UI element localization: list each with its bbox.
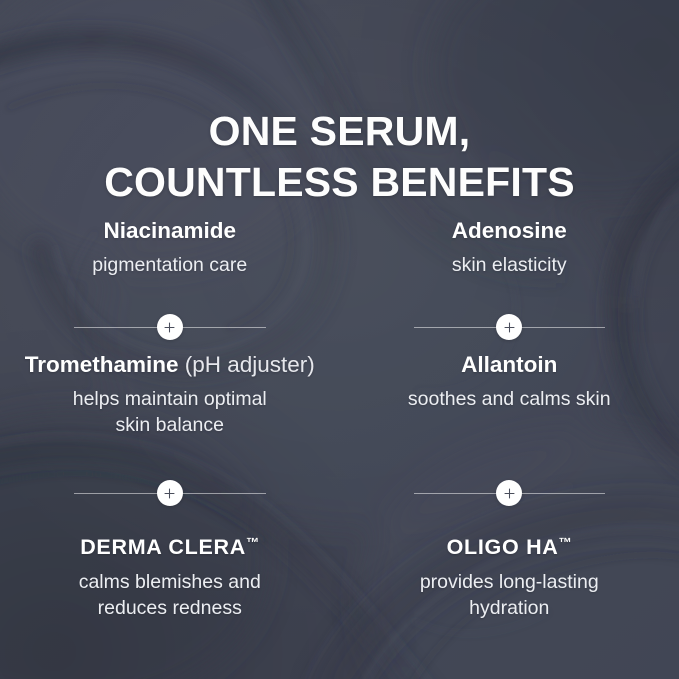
ingredient-name: Niacinamide [14,216,326,245]
row-spacer [0,516,679,534]
benefit-item-oligo-ha: OLIGO HA™ provides long-lasting hydratio… [340,534,679,626]
divider-row-2 [0,470,679,516]
benefits-row-2: Tromethamine (pH adjuster) helps maintai… [0,350,679,470]
description-line: calms blemishes and [14,570,326,596]
divider-left [0,480,340,506]
plus-icon [496,480,522,506]
page-title: ONE SERUM, COUNTLESS BENEFITS [0,106,679,207]
description-line: provides long-lasting [354,570,666,596]
description-line: skin elasticity [452,254,567,276]
description-line: skin balance [14,413,326,439]
benefits-grid: Niacinamide pigmentation care Adenosine … [0,216,679,626]
ingredient-name-text: Tromethamine [25,352,179,377]
ingredient-name-text: OLIGO HA [447,535,559,559]
ingredient-qualifier: (pH adjuster) [185,352,315,377]
trademark-icon: ™ [246,535,259,550]
benefits-row-1: Niacinamide pigmentation care Adenosine … [0,216,679,304]
description-line: reduces redness [14,596,326,622]
benefit-item-adenosine: Adenosine skin elasticity [340,216,679,294]
ingredient-description: calms blemishes and reduces redness [14,570,326,622]
benefit-item-tromethamine: Tromethamine (pH adjuster) helps maintai… [0,350,340,454]
headline-line-1: ONE SERUM, [0,106,679,156]
benefits-poster: ONE SERUM, COUNTLESS BENEFITS Niacinamid… [0,0,679,679]
ingredient-name-text: Adenosine [452,218,567,243]
divider-right [340,314,679,340]
ingredient-name: Adenosine [354,216,666,245]
divider-left [0,314,340,340]
ingredient-name-text: Allantoin [461,352,557,377]
divider-row-1 [0,304,679,350]
ingredient-name-text: DERMA CLERA [80,535,246,559]
plus-icon [157,314,183,340]
description-line: soothes and calms skin [354,387,666,413]
headline-line-2: COUNTLESS BENEFITS [0,157,679,207]
ingredient-name: Allantoin [354,350,666,379]
ingredient-description: helps maintain optimal skin balance [14,387,326,439]
benefits-row-3: DERMA CLERA™ calms blemishes and reduces… [0,534,679,626]
description-line: hydration [354,596,666,622]
divider-right [340,480,679,506]
benefit-item-niacinamide: Niacinamide pigmentation care [0,216,340,294]
plus-icon [496,314,522,340]
benefit-item-allantoin: Allantoin soothes and calms skin [340,350,679,454]
ingredient-description: pigmentation care [14,253,326,279]
ingredient-name-text: Niacinamide [103,218,236,243]
ingredient-name: DERMA CLERA™ [14,534,326,562]
benefit-item-derma-clera: DERMA CLERA™ calms blemishes and reduces… [0,534,340,626]
ingredient-description: skin elasticity [354,253,666,279]
plus-icon [157,480,183,506]
ingredient-name: OLIGO HA™ [354,534,666,562]
ingredient-description: provides long-lasting hydration [354,570,666,622]
poster-content: ONE SERUM, COUNTLESS BENEFITS Niacinamid… [0,0,679,679]
trademark-icon: ™ [559,535,572,550]
description-line: helps maintain optimal [14,387,326,413]
ingredient-description: soothes and calms skin [354,387,666,413]
ingredient-name: Tromethamine (pH adjuster) [14,350,326,379]
description-line: pigmentation care [92,254,247,276]
